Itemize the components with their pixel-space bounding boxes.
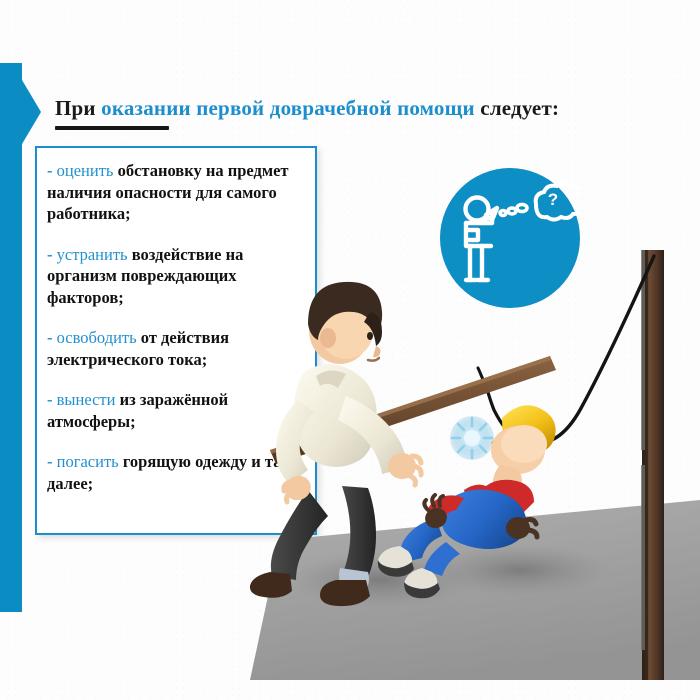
title-highlight: оказании первой доврачебной помощи [101,96,475,120]
list-item-action: вынести [57,390,116,409]
electric-spark-graphic [450,416,494,460]
list-item-dash: - [47,245,57,264]
list-item-action: устранить [57,245,128,264]
question-mark-glyph: ? [548,190,558,209]
left-accent-bar [0,63,22,612]
list-item-action: освободить [57,328,137,347]
title-underline [55,126,169,130]
accent-arrow-icon [22,80,41,144]
title-tail: следует: [475,96,559,120]
title-lead: При [55,96,101,120]
list-item: - оценить обстановку на предмет наличия … [47,160,303,225]
list-item-dash: - [47,452,57,471]
electrical-rescue-illustration [250,250,700,680]
list-item-action: оценить [57,161,114,180]
slide-root: При оказании первой доврачебной помощи с… [0,0,700,700]
utility-pole-graphic [641,250,664,680]
list-item-dash: - [47,390,57,409]
page-title: При оказании первой доврачебной помощи с… [55,96,559,121]
list-item-dash: - [47,161,57,180]
list-item-dash: - [47,328,57,347]
list-item-action: погасить [57,452,119,471]
